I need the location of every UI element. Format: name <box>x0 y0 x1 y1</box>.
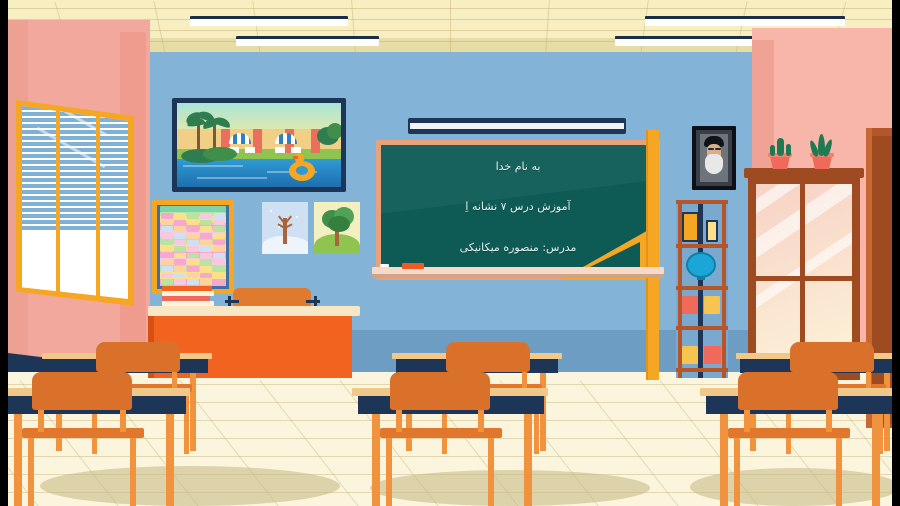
alphabet-chart-grid <box>160 212 226 286</box>
board-eraser[interactable] <box>402 263 424 269</box>
globe-stand <box>697 276 705 280</box>
board-side-post <box>646 130 659 380</box>
classroom-scene: به نام خدا آموزش درس ۷ نشانه اِ مدرس: من… <box>0 0 900 506</box>
window-mullion-1 <box>56 109 60 297</box>
letterbox-right <box>892 0 900 506</box>
shelf-book-5 <box>682 346 698 364</box>
plant-pot-left <box>770 156 790 169</box>
teacher-desk-top <box>148 306 360 316</box>
chalk-tray-shadow <box>372 274 664 278</box>
cabinet-mullion-h <box>756 276 852 281</box>
window-blinds[interactable] <box>22 106 128 234</box>
board-line-2: آموزش درس ۷ نشانه اِ <box>381 200 655 213</box>
floor-shadow-2 <box>370 470 650 506</box>
ceiling-light-3 <box>236 36 379 46</box>
poster-water <box>177 159 341 187</box>
ceiling-light-1 <box>190 16 348 26</box>
cactus-left <box>777 138 784 156</box>
shelf-book-1 <box>682 212 699 242</box>
shelf-book-3 <box>682 296 698 314</box>
window-mullion-2 <box>96 114 100 299</box>
shelf-book-6 <box>704 346 721 364</box>
portrait-image <box>700 134 728 182</box>
summer-tree-picture <box>314 202 360 254</box>
ceiling-light-2 <box>645 16 845 26</box>
shelf-book-2 <box>706 220 718 242</box>
board-top-rail-stripe <box>410 123 624 129</box>
globe <box>686 252 716 278</box>
winter-tree-picture <box>262 202 308 254</box>
ceiling-light-4 <box>615 36 765 46</box>
chalk-stick[interactable] <box>380 264 389 267</box>
board-line-1: به نام خدا <box>381 160 655 173</box>
bookshelf-unit <box>676 200 728 378</box>
letterbox-left <box>0 0 8 506</box>
book-stack <box>162 286 214 308</box>
shelf-book-4 <box>704 296 720 314</box>
beach-poster-image <box>177 103 341 187</box>
plant-pot-right <box>812 156 832 169</box>
floor-shadow-1 <box>40 466 340 506</box>
